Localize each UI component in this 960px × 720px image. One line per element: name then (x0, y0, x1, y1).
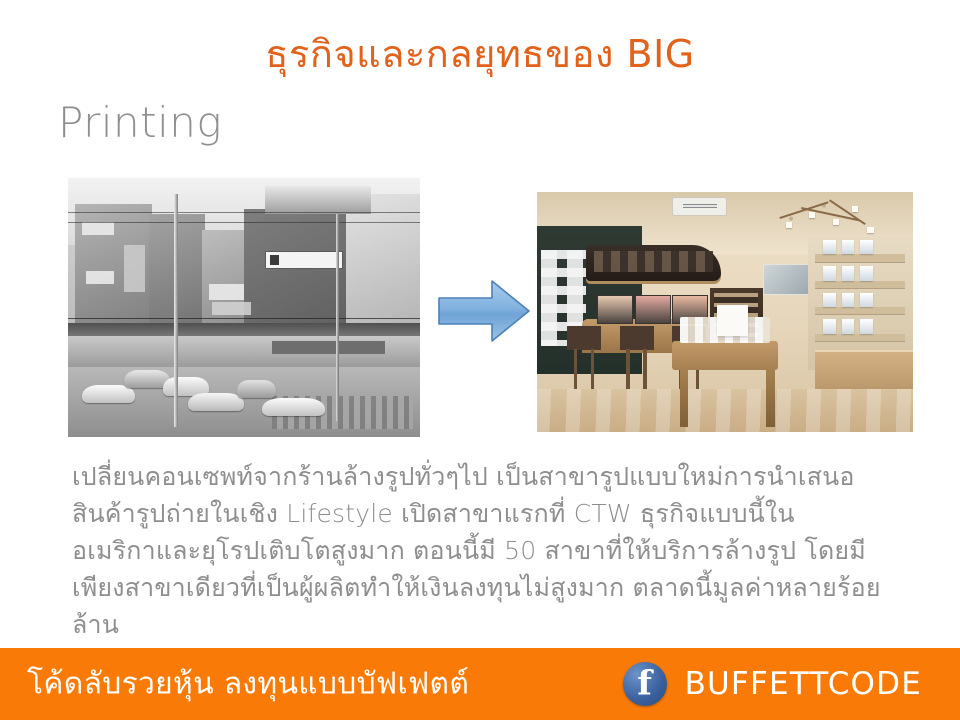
thai-shop-sign (82, 222, 114, 235)
car (188, 393, 244, 411)
table-leg (766, 370, 774, 428)
street-photo-artwork (68, 178, 420, 437)
thai-shop-sign (124, 245, 145, 292)
body-line: ล้าน (72, 606, 908, 643)
footer-tagline: โค้ดลับรวยหุ้น ลงทุนแบบบัฟเฟตต์ (27, 661, 469, 708)
product (823, 240, 836, 254)
thai-shop-sign (212, 302, 251, 315)
hanging-tag (867, 227, 873, 233)
product (823, 266, 836, 280)
hanging-tag (852, 206, 858, 212)
slide-root: ธุรกิจและกลยุทธของ BIG Printing (0, 0, 960, 720)
facebook-icon[interactable]: f (623, 662, 667, 706)
product (860, 319, 873, 333)
product (842, 319, 855, 333)
rack-shelf (815, 334, 905, 341)
thai-shop-sign (86, 271, 114, 284)
product (842, 266, 855, 280)
transition-arrow (437, 277, 531, 345)
wooden-floor (537, 389, 913, 432)
power-line (68, 222, 420, 223)
car (262, 398, 325, 416)
shopfront-sign (272, 341, 385, 354)
product (860, 266, 873, 280)
hanging-tag (786, 222, 792, 228)
ceiling-vent (672, 197, 727, 216)
footer-brand-group: f BUFFETTCODE (623, 662, 922, 706)
hanging-tag (833, 219, 839, 225)
arrow-right-icon (437, 277, 531, 345)
hanging-tag (809, 212, 815, 218)
rack-shelf (815, 281, 905, 288)
slide-subtitle: Printing (58, 100, 222, 146)
after-photo-lifestyle-store (537, 192, 913, 432)
table-leg (680, 370, 688, 428)
product (823, 319, 836, 333)
awning (68, 323, 420, 336)
product (842, 240, 855, 254)
rack-shelf (815, 307, 905, 314)
product (842, 293, 855, 307)
before-photo-street-shop (68, 178, 420, 437)
rack-shelf (815, 254, 905, 261)
store-photo-artwork (537, 192, 913, 432)
facebook-glyph: f (623, 666, 667, 700)
body-line: สินค้ารูปถ่ายในเชิง Lifestyle เปิดสาขาแร… (72, 495, 908, 532)
car (82, 385, 135, 403)
power-line (68, 212, 420, 213)
product (860, 240, 873, 254)
fujifilm-billboard (265, 251, 342, 269)
display-board (717, 305, 747, 336)
body-line: เพียงสาขาเดียวที่เป็นผู้ผลิตทำให้เงินลงท… (72, 569, 908, 606)
body-line: อเมริกาและยุโรปเติบโตสูงมาก ตอนนี้มี 50 … (72, 532, 908, 569)
curved-overhead-shelf (586, 245, 721, 281)
thai-shop-sign (209, 284, 244, 300)
kiosk-monitor (597, 295, 633, 323)
body-line: เปลี่ยนคอนเซพท์จากร้านล้างรูปทั่วๆไป เป็… (72, 458, 908, 495)
utility-pole (174, 194, 178, 427)
footer-bar: โค้ดลับรวยหุ้น ลงทุนแบบบัฟเฟตต์ f BUFFET… (0, 648, 960, 720)
brand-name: BUFFETTCODE (685, 666, 922, 702)
body-paragraph: เปลี่ยนคอนเซพท์จากร้านล้างรูปทั่วๆไป เป็… (72, 458, 908, 643)
bar-stool (567, 326, 601, 388)
building (346, 194, 420, 339)
display-table (672, 341, 777, 370)
bar-stool (620, 326, 654, 388)
product (823, 293, 836, 307)
kiosk-monitor (635, 295, 671, 323)
utility-pole (336, 214, 340, 421)
power-line (68, 318, 420, 319)
rooftop (265, 186, 371, 214)
building (244, 209, 350, 339)
car (237, 380, 276, 398)
slide-title: ธุรกิจและกลยุทธของ BIG (0, 34, 960, 76)
product (860, 293, 873, 307)
